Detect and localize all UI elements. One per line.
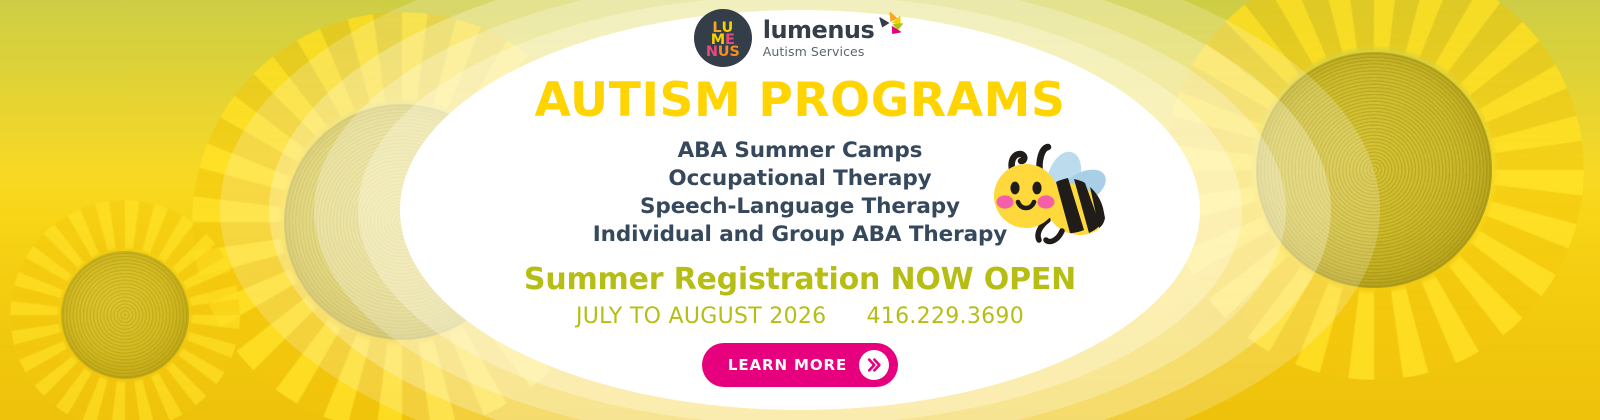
logo-mark-row-3: NUS (694, 45, 752, 60)
logo-mark-char: N (706, 45, 718, 60)
cta-arrow-circle (859, 350, 889, 380)
learn-more-button[interactable]: LEARN MORE (702, 343, 898, 387)
double-chevron-right-icon (865, 356, 883, 374)
lumenus-logo-text: lumenus Autism Services (763, 18, 907, 59)
program-item: Speech-Language Therapy (593, 193, 1007, 221)
cartoon-bee-illustration (978, 130, 1113, 260)
contact-phone[interactable]: 416.229.3690 (866, 304, 1024, 329)
program-list: ABA Summer Camps Occupational Therapy Sp… (593, 137, 1007, 250)
brand-name: lumenus (763, 18, 875, 42)
lumenus-logo[interactable]: LU ME NUS lumenus Autism Services (694, 9, 907, 67)
lumenus-sunburst-icon (876, 12, 906, 46)
logo-mark-char: S (729, 45, 739, 60)
logo-mark-char: U (718, 45, 730, 60)
program-item: ABA Summer Camps (593, 137, 1007, 165)
page-title: AUTISM PROGRAMS (535, 77, 1066, 124)
lumenus-logo-mark-icon: LU ME NUS (694, 9, 752, 67)
learn-more-label: LEARN MORE (728, 356, 847, 374)
program-item: Occupational Therapy (593, 165, 1007, 193)
lumenus-wordmark: lumenus Autism Services (763, 18, 875, 59)
registration-details: JULY TO AUGUST 2026 416.229.3690 (576, 304, 1024, 329)
program-item: Individual and Group ABA Therapy (593, 221, 1007, 249)
registration-dates: JULY TO AUGUST 2026 (576, 304, 827, 329)
brand-tagline: Autism Services (763, 46, 875, 59)
registration-headline: Summer Registration NOW OPEN (524, 264, 1076, 296)
promo-banner: LU ME NUS lumenus Autism Services (0, 0, 1600, 420)
